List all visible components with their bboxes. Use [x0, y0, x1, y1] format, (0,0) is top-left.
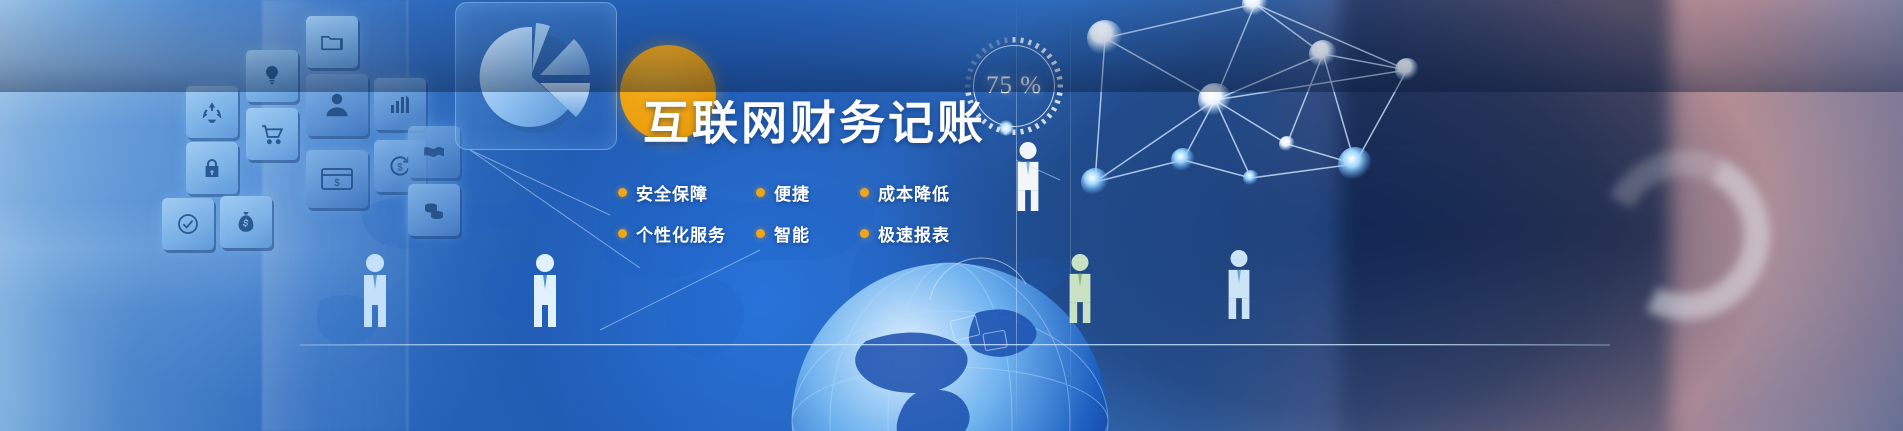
promotional-banner: $ $	[0, 0, 1903, 431]
feature-item: 安全保障	[618, 180, 756, 205]
bullet-dot-icon	[756, 229, 765, 238]
feature-item: 成本降低	[860, 180, 988, 205]
feature-label: 成本降低	[878, 180, 950, 205]
bullet-dot-icon	[860, 188, 869, 197]
bullet-dot-icon	[618, 229, 627, 238]
bullet-dot-icon	[618, 188, 627, 197]
feature-item: 个性化服务	[618, 221, 756, 246]
feature-label: 安全保障	[636, 180, 708, 205]
bullet-dot-icon	[860, 229, 869, 238]
feature-item: 便捷	[756, 180, 860, 205]
page-title: 互联网财务记账	[643, 100, 986, 146]
feature-list: 安全保障 便捷 成本降低 个性化服务 智能 极速报表	[618, 180, 988, 246]
bullet-dot-icon	[756, 188, 765, 197]
feature-label: 智能	[774, 221, 810, 246]
feature-label: 极速报表	[878, 221, 950, 246]
feature-label: 个性化服务	[636, 221, 726, 246]
feature-item: 智能	[756, 221, 860, 246]
feature-item: 极速报表	[860, 221, 988, 246]
feature-label: 便捷	[774, 180, 810, 205]
